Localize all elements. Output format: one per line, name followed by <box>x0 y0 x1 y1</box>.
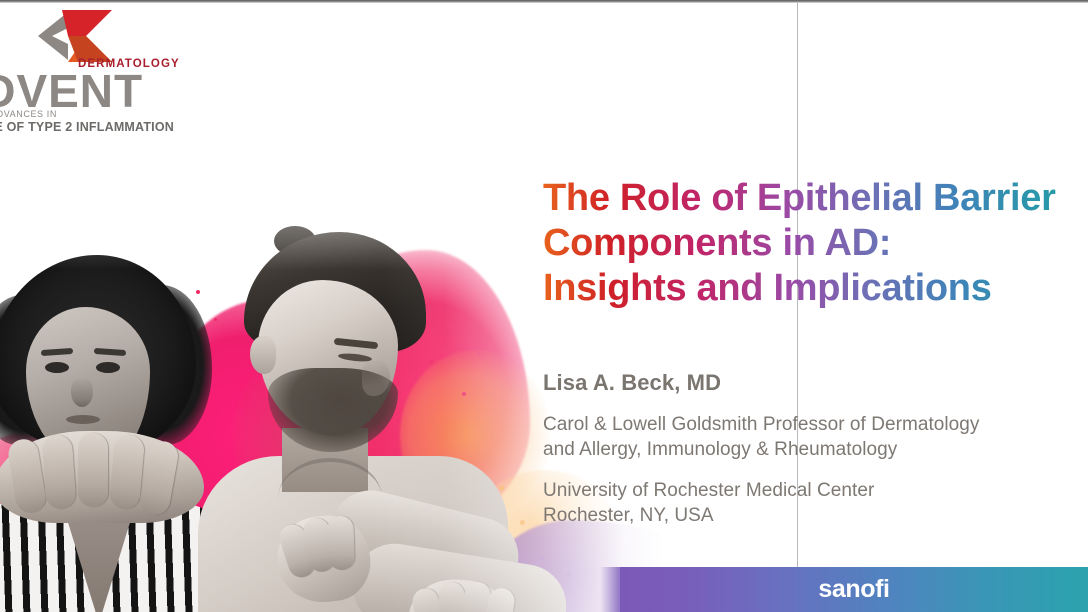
speaker-affiliation-line-1: Carol & Lowell Goldsmith Professor of De… <box>543 412 1088 437</box>
speaker-name: Lisa A. Beck, MD <box>543 368 1088 398</box>
woman-finger <box>41 434 76 510</box>
speaker-institution-line-2: Rochester, NY, USA <box>543 503 1088 528</box>
sanofi-logo: sanofi <box>620 567 1088 612</box>
man-ear <box>250 336 276 374</box>
title-line-1: The Role of Epithelial Barrier <box>543 176 1088 221</box>
advent-arrow-icon <box>16 6 126 66</box>
woman-eye <box>96 362 120 373</box>
sponsor-brand-bar: sanofi <box>620 567 1088 612</box>
man-finger <box>327 516 355 571</box>
slide-title: The Role of Epithelial Barrier Component… <box>543 176 1088 311</box>
speaker-affiliation-line-2: and Allergy, Immunology & Rheumatology <box>543 437 1088 462</box>
logo-tagline-line2: SCIENCE OF TYPE 2 INFLAMMATION <box>0 120 174 134</box>
speaker-institution-line-1: University of Rochester Medical Center <box>543 478 1088 503</box>
speaker-info: Lisa A. Beck, MD Carol & Lowell Goldsmit… <box>543 368 1088 528</box>
woman-finger <box>78 433 108 507</box>
logo-tagline-line1: ADVANCES IN <box>0 109 57 119</box>
advent-dermatology-logo: DERMATOLOGY ADVENT ADVANCES IN SCIENCE O… <box>0 6 174 136</box>
woman-eye <box>45 362 69 373</box>
presentation-slide: DERMATOLOGY ADVENT ADVANCES IN SCIENCE O… <box>0 0 1088 612</box>
video-frame-top-edge <box>0 0 1088 3</box>
woman-mouth <box>66 415 100 424</box>
title-line-3: Insights and Implications <box>543 266 1088 311</box>
title-line-2: Components in AD: <box>543 221 1088 266</box>
logo-brand-label: ADVENT <box>0 68 143 114</box>
woman-nose <box>71 377 93 407</box>
